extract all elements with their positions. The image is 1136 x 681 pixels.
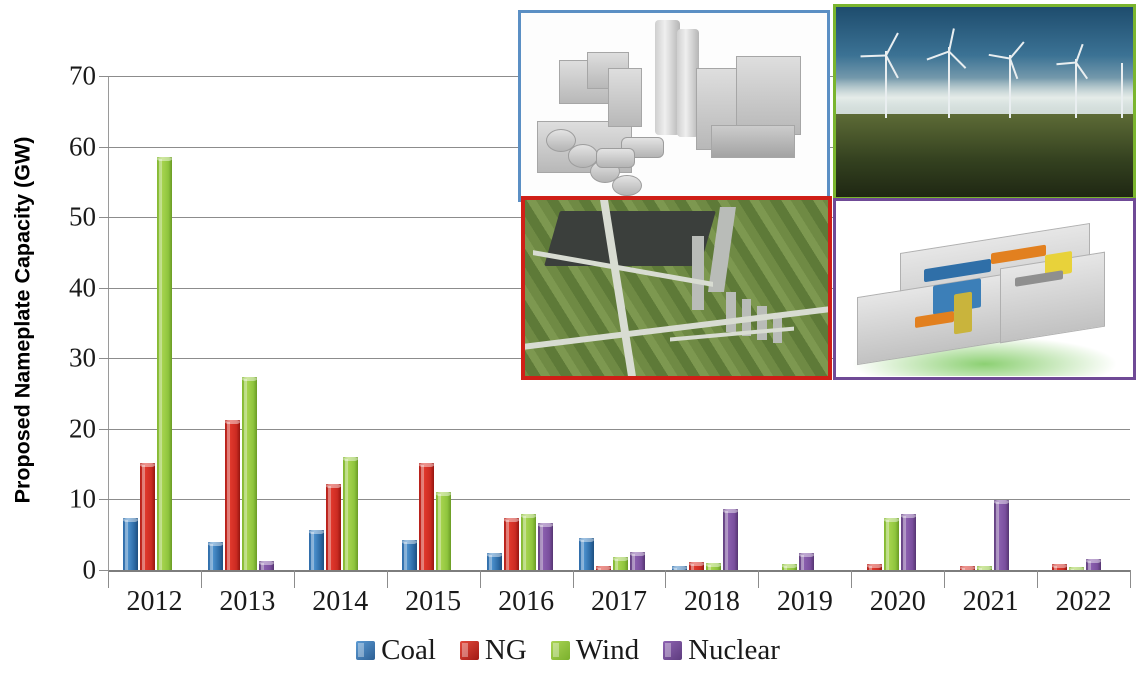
- bar-ng-2014: [326, 484, 341, 570]
- y-axis-tick: [99, 288, 108, 289]
- bar-nuclear-2020: [901, 514, 916, 570]
- bar-nuclear-2021: [994, 500, 1009, 570]
- x-axis-label-2014: 2014: [312, 586, 368, 618]
- y-axis-tick: [99, 499, 108, 500]
- legend-label-nuclear: Nuclear: [688, 634, 780, 667]
- x-axis-tick: [665, 570, 666, 588]
- bar-nuclear-2022: [1086, 559, 1101, 570]
- x-axis-tick: [201, 570, 202, 588]
- bar-coal-2016: [487, 553, 502, 570]
- x-axis-tick: [758, 570, 759, 588]
- natural-gas-plant-render: [518, 10, 830, 202]
- field: [833, 114, 1136, 200]
- bar-coal-2014: [309, 530, 324, 570]
- y-axis-tick: [99, 570, 108, 571]
- bar-group-2015: [402, 76, 453, 570]
- x-axis-label-2020: 2020: [870, 586, 926, 618]
- bar-wind-2016: [521, 514, 536, 570]
- x-axis-label-2016: 2016: [498, 586, 554, 618]
- bar-ng-2018: [689, 562, 704, 570]
- bar-nuclear-2018: [723, 509, 738, 570]
- x-axis-label-2018: 2018: [684, 586, 740, 618]
- bar-ng-2016: [504, 518, 519, 570]
- legend-swatch-ng-icon: [460, 641, 479, 660]
- x-axis-tick: [1130, 570, 1131, 588]
- x-axis-label-2022: 2022: [1056, 586, 1112, 618]
- bar-coal-2017: [579, 538, 594, 570]
- x-axis-tick: [108, 570, 109, 588]
- wind-farm-photo: [833, 4, 1136, 200]
- legend-item-nuclear[interactable]: Nuclear: [663, 634, 780, 667]
- legend-label-wind: Wind: [576, 634, 639, 667]
- bar-wind-2012: [157, 157, 172, 570]
- bar-ng-2012: [140, 463, 155, 570]
- bar-wind-2014: [343, 457, 358, 570]
- x-axis-label-2017: 2017: [591, 586, 647, 618]
- x-axis-tick: [1037, 570, 1038, 588]
- bar-coal-2012: [123, 518, 138, 570]
- bar-ng-2015: [419, 463, 434, 570]
- legend-swatch-wind-icon: [551, 641, 570, 660]
- y-axis-tick: [99, 147, 108, 148]
- y-axis-title-text: Proposed Nameplate Capacity (GW): [11, 137, 36, 504]
- x-axis-tick: [573, 570, 574, 588]
- y-axis-tick-label: 70: [26, 61, 96, 92]
- legend-item-wind[interactable]: Wind: [551, 634, 639, 667]
- y-axis-tick: [99, 358, 108, 359]
- y-axis-tick: [99, 217, 108, 218]
- x-axis-label-2015: 2015: [405, 586, 461, 618]
- x-axis-tick: [294, 570, 295, 588]
- legend-label-coal: Coal: [381, 634, 436, 667]
- bar-wind-2015: [436, 492, 451, 570]
- y-axis-tick-label: 60: [26, 131, 96, 162]
- legend-swatch-coal-icon: [356, 641, 375, 660]
- bar-coal-2013: [208, 542, 223, 570]
- y-axis-tick-label: 20: [26, 413, 96, 444]
- legend-label-ng: NG: [485, 634, 527, 667]
- x-axis-tick: [480, 570, 481, 588]
- nuclear-reactor-cutaway: [833, 198, 1136, 380]
- chart-figure: Proposed Nameplate Capacity (GW) 2012201…: [0, 0, 1136, 681]
- bar-nuclear-2019: [799, 553, 814, 570]
- x-axis-label-2021: 2021: [963, 586, 1019, 618]
- x-axis-label-2012: 2012: [126, 586, 182, 618]
- bar-wind-2020: [884, 518, 899, 570]
- x-axis-tick: [387, 570, 388, 588]
- y-axis-tick-label: 30: [26, 343, 96, 374]
- x-axis-line: [108, 570, 1130, 572]
- legend-swatch-nuclear-icon: [663, 641, 682, 660]
- y-axis-tick-label: 0: [26, 555, 96, 586]
- y-axis-tick: [99, 76, 108, 77]
- coal-plant-aerial-photo: [521, 196, 832, 380]
- bar-nuclear-2017: [630, 552, 645, 570]
- bar-nuclear-2013: [259, 561, 274, 570]
- x-axis-label-2013: 2013: [219, 586, 275, 618]
- bar-wind-2013: [242, 377, 257, 570]
- legend-item-ng[interactable]: NG: [460, 634, 527, 667]
- photo-collage: [518, 4, 1136, 380]
- y-axis-tick-label: 50: [26, 202, 96, 233]
- x-axis-tick: [944, 570, 945, 588]
- bar-ng-2013: [225, 420, 240, 570]
- bar-group-2012: [123, 76, 174, 570]
- y-axis-tick-label: 10: [26, 484, 96, 515]
- bar-nuclear-2016: [538, 523, 553, 570]
- chart-legend: CoalNGWindNuclear: [0, 634, 1136, 667]
- bar-wind-2018: [706, 563, 721, 570]
- y-axis-tick-label: 40: [26, 272, 96, 303]
- bar-coal-2015: [402, 540, 417, 570]
- bar-group-2014: [309, 76, 360, 570]
- y-axis-line: [108, 76, 109, 570]
- y-axis-tick: [99, 429, 108, 430]
- x-axis-label-2019: 2019: [777, 586, 833, 618]
- legend-item-coal[interactable]: Coal: [356, 634, 436, 667]
- bar-wind-2017: [613, 557, 628, 570]
- bar-group-2013: [208, 76, 276, 570]
- x-axis-tick: [851, 570, 852, 588]
